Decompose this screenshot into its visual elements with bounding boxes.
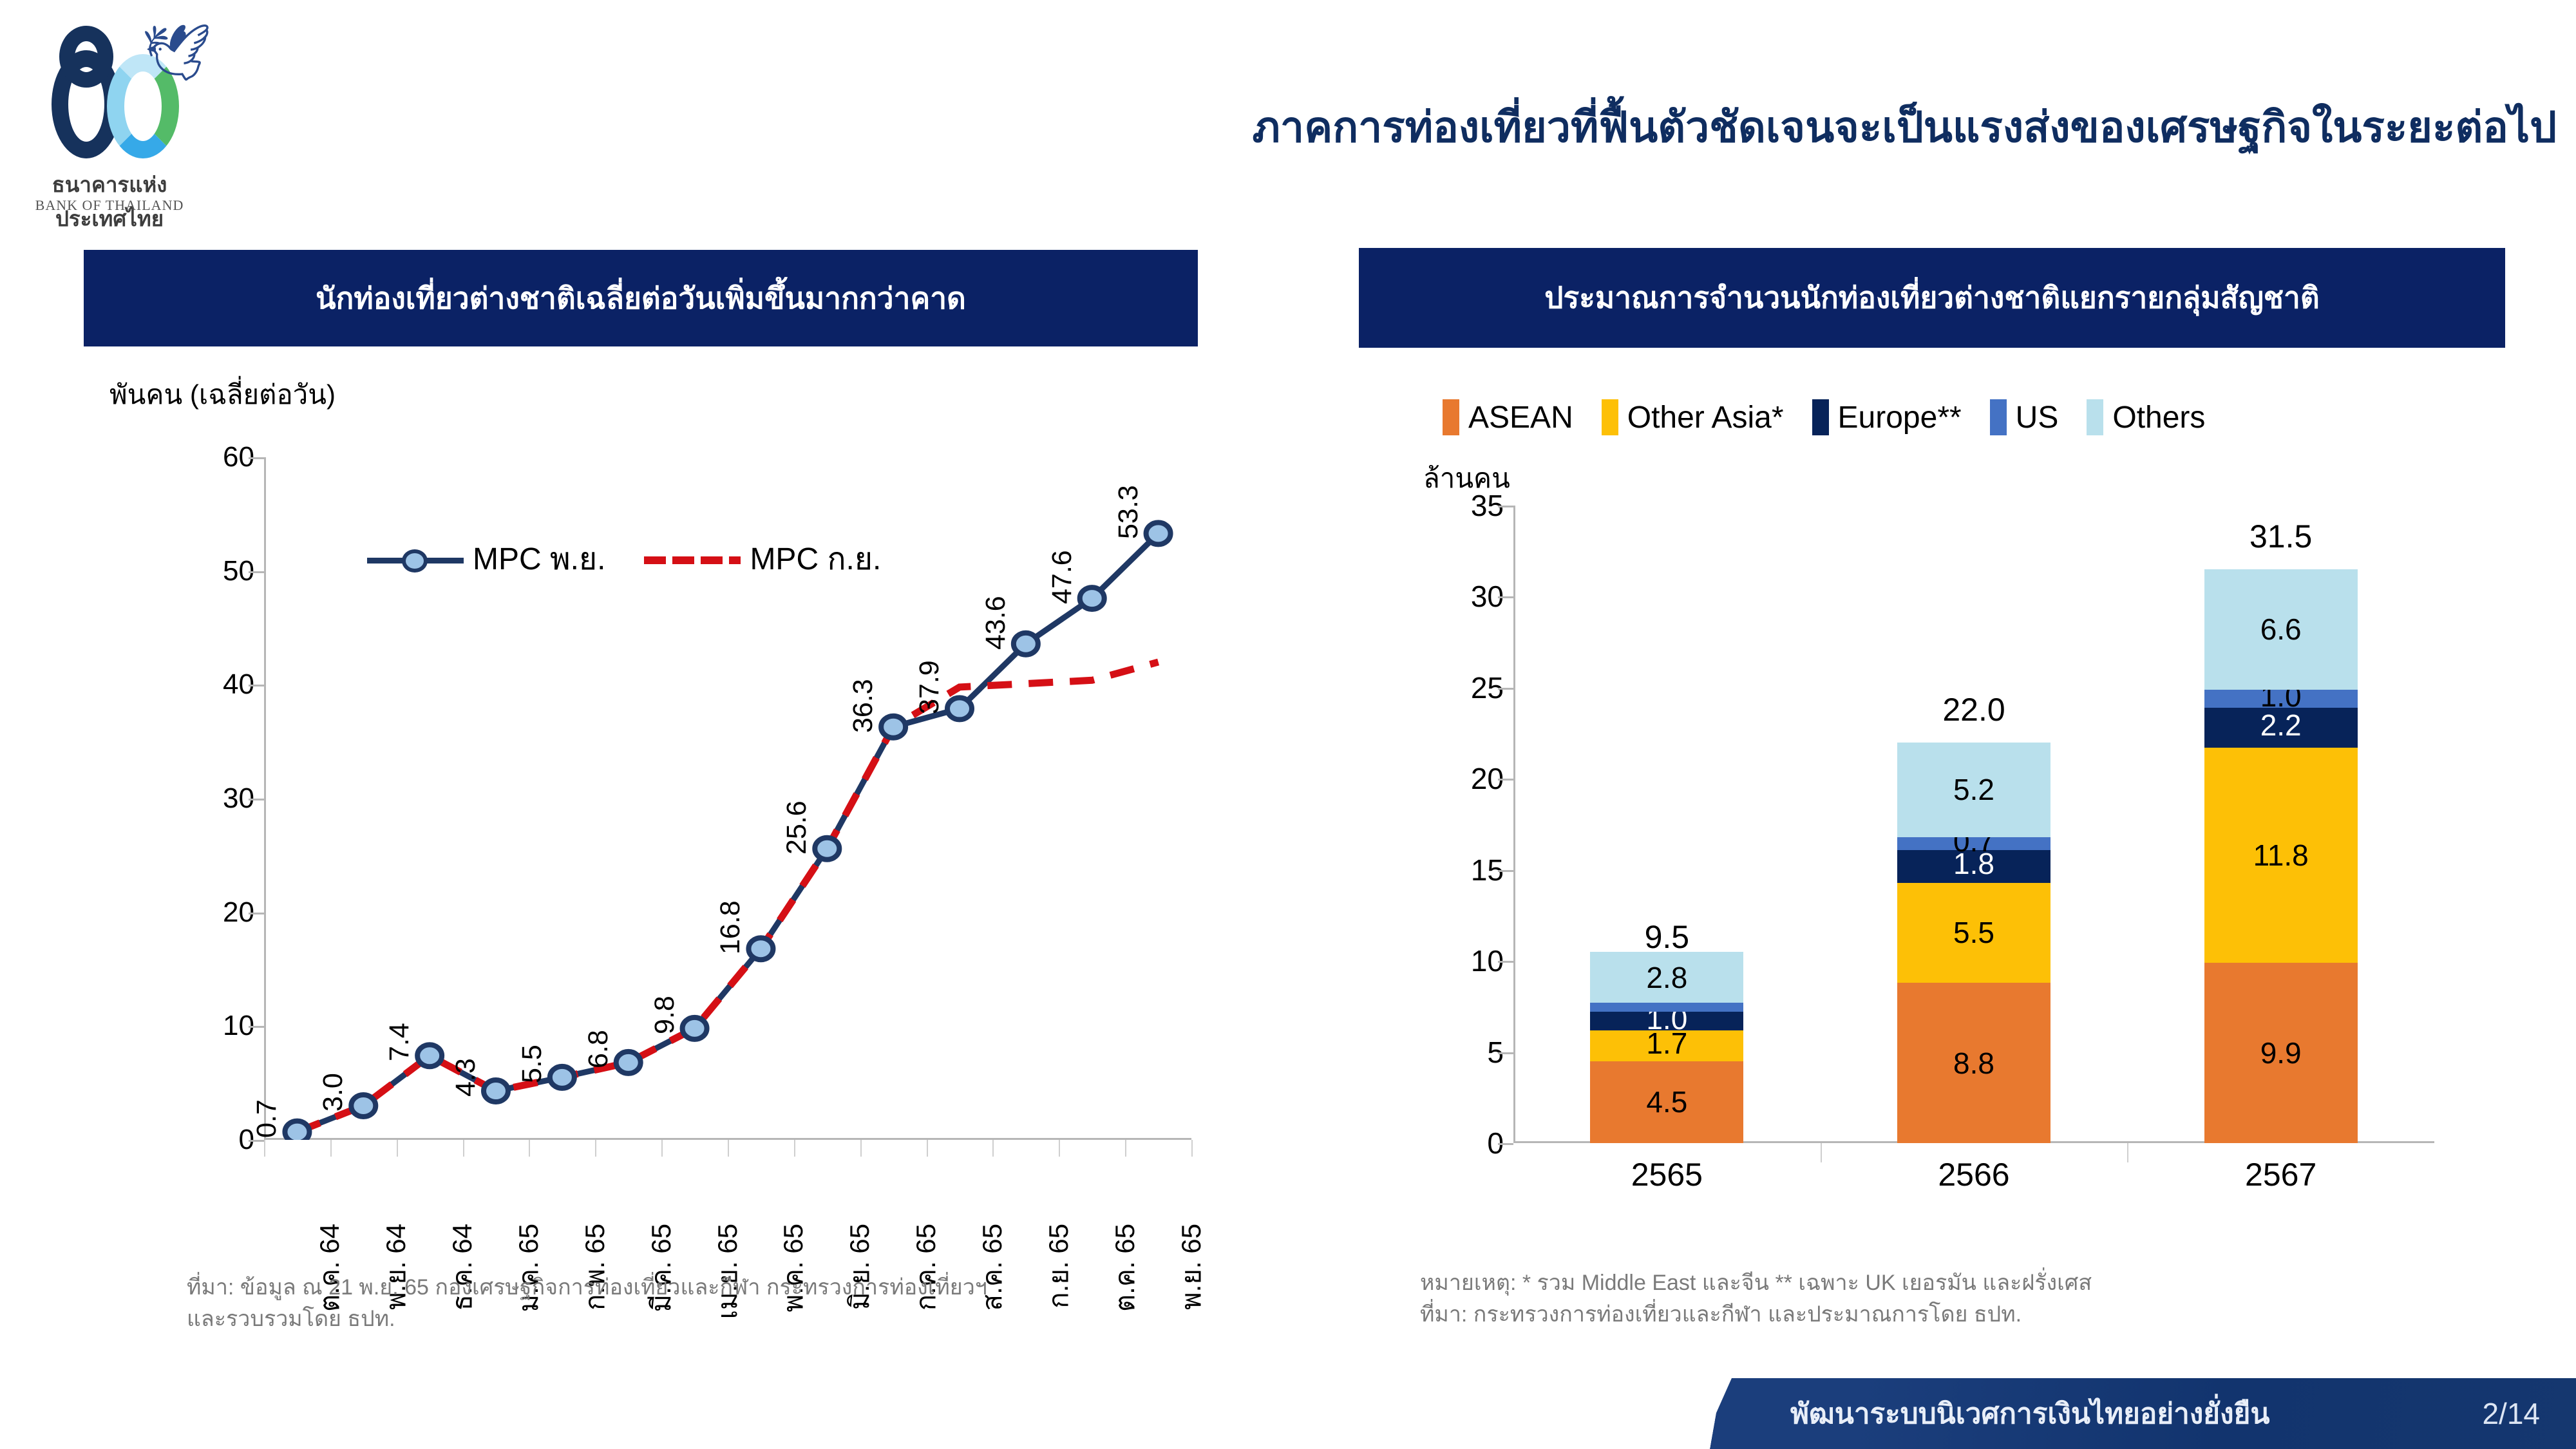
bar-segment-value: 4.5 xyxy=(1646,1084,1687,1119)
legend-label: ASEAN xyxy=(1468,400,1573,435)
page-number: 2/14 xyxy=(2482,1396,2540,1431)
y-tick-label: 10 xyxy=(1430,943,1504,978)
y-tick-label: 60 xyxy=(151,441,254,473)
y-axis-tick xyxy=(1498,596,1513,598)
bar-total-label: 22.0 xyxy=(1897,691,2050,728)
logo-ring-inner-left xyxy=(59,26,113,88)
y-tick-label: 20 xyxy=(1430,761,1504,796)
footer-slogan: พัฒนาระบบนิเวศการเงินไทยอย่างยั่งยืน xyxy=(1790,1391,2269,1436)
y-axis-tick xyxy=(1498,506,1513,507)
bar-segment-us: 1.0 xyxy=(2204,690,2358,708)
legend-swatch-icon xyxy=(2087,399,2103,435)
y-axis-tick xyxy=(1498,779,1513,781)
source-right-line: ที่มา: กระทรวงการท่องเที่ยวและกีฬา และปร… xyxy=(1420,1299,2515,1331)
data-point-marker xyxy=(748,938,773,960)
bar-group-2566: 8.85.51.80.75.222.0 xyxy=(1897,743,2050,1143)
y-tick-label: 15 xyxy=(1430,853,1504,887)
panel-header-left: นักท่องเที่ยวต่างชาติเฉลี่ยต่อวันเพิ่มขึ… xyxy=(84,250,1198,346)
x-axis-tick xyxy=(595,1140,596,1157)
data-point-label: 47.6 xyxy=(1046,550,1078,604)
data-point-marker xyxy=(484,1080,508,1102)
legend-label: US xyxy=(2016,400,2059,435)
source-left-line1: ที่มา: ข้อมูล ณ 21 พ.ย. 65 กองเศรษฐกิจกา… xyxy=(187,1272,1217,1303)
legend-swatch-icon xyxy=(1443,399,1459,435)
bar-segment-value: 9.9 xyxy=(2260,1036,2302,1070)
bar-segment-us: 0.7 xyxy=(1897,837,2050,850)
y-tick-label: 5 xyxy=(1430,1035,1504,1070)
source-note-right: หมายเหตุ: * รวม Middle East และจีน ** เฉ… xyxy=(1420,1267,2515,1331)
y-tick-label: 20 xyxy=(151,896,254,929)
data-point-label: 5.5 xyxy=(516,1045,548,1083)
y-tick-label: 40 xyxy=(151,668,254,701)
y-tick-label: 30 xyxy=(1430,579,1504,614)
legend-item-asean: ASEAN xyxy=(1443,399,1573,435)
garuda-emblem-icon: 🕊 xyxy=(142,19,189,86)
x-axis-tick xyxy=(1059,1140,1060,1157)
legend-swatch-icon xyxy=(1990,399,2007,435)
x-axis-tick xyxy=(330,1140,332,1157)
x-axis-tick xyxy=(794,1140,795,1157)
data-point-label: 3.0 xyxy=(317,1073,349,1112)
y-axis-line-right xyxy=(1513,506,1515,1143)
legend-item-others: Others xyxy=(2087,399,2205,435)
data-point-marker xyxy=(815,838,839,860)
bar-segment-value: 11.8 xyxy=(2253,838,2309,873)
line-series-mpc-nov xyxy=(297,533,1158,1132)
x-tick-label: 2567 xyxy=(2127,1156,2434,1193)
bar-segment-value: 6.6 xyxy=(2260,612,2302,647)
data-point-label: 9.8 xyxy=(649,996,681,1034)
x-axis-tick xyxy=(463,1140,464,1157)
data-point-marker xyxy=(550,1066,574,1088)
y-axis-unit-label: พันคน (เฉลี่ยต่อวัน) xyxy=(109,374,336,416)
y-tick-label: 35 xyxy=(1430,488,1504,523)
data-point-label: 25.6 xyxy=(781,800,813,855)
bar-total-label: 31.5 xyxy=(2204,518,2358,555)
bar-segment-others: 5.2 xyxy=(1897,743,2050,837)
data-point-label: 53.3 xyxy=(1113,486,1144,540)
data-point-marker xyxy=(285,1121,309,1140)
y-axis-tick xyxy=(1498,1052,1513,1054)
data-point-label: 37.9 xyxy=(914,661,945,715)
y-tick-label: 0 xyxy=(151,1124,254,1156)
bar-segment-us xyxy=(1590,1003,1743,1012)
data-point-label: 7.4 xyxy=(384,1023,415,1061)
legend-label: Europe** xyxy=(1838,400,1962,435)
bar-segment-otherasia: 11.8 xyxy=(2204,748,2358,963)
x-axis-tick xyxy=(529,1140,530,1157)
stacked-bar-chart-tourist-forecast: ASEANOther Asia*Europe**USOthers ล้านคน … xyxy=(1359,374,2518,1275)
x-axis-labels-right: 256525662567 xyxy=(1513,1156,2434,1214)
data-point-label: 0.7 xyxy=(251,1099,283,1138)
y-tick-label: 50 xyxy=(151,555,254,587)
legend-label: Other Asia* xyxy=(1627,400,1784,435)
source-note-left: ที่มา: ข้อมูล ณ 21 พ.ย. 65 กองเศรษฐกิจกา… xyxy=(187,1272,1217,1336)
y-tick-label: 10 xyxy=(151,1010,254,1042)
y-tick-label: 0 xyxy=(1430,1126,1504,1160)
data-point-label: 43.6 xyxy=(980,596,1012,650)
data-point-marker xyxy=(947,697,972,719)
data-point-label: 16.8 xyxy=(715,900,746,954)
y-axis-tick xyxy=(249,685,264,687)
data-point-label: 6.8 xyxy=(583,1030,614,1068)
x-tick-label: 2566 xyxy=(1821,1156,2128,1193)
bar-segment-asean: 8.8 xyxy=(1897,983,2050,1143)
source-left-line2: และรวบรวมโดย ธปท. xyxy=(187,1303,1217,1335)
y-axis-labels-left: 0102030405060 xyxy=(151,457,254,1140)
legend-label: Others xyxy=(2112,400,2205,435)
x-axis-tick xyxy=(860,1140,862,1157)
data-point-marker xyxy=(1014,633,1038,655)
panel-header-right: ประมาณการจำนวนนักท่องเที่ยวต่างชาติแยกรา… xyxy=(1359,248,2505,348)
legend-item-otherasia: Other Asia* xyxy=(1602,399,1784,435)
data-point-label: 4.3 xyxy=(450,1058,482,1097)
x-axis-tick xyxy=(264,1140,265,1157)
bank-of-thailand-logo: 🕊 ธนาคารแห่งประเทศไทย BANK OF THAILAND xyxy=(13,6,238,232)
x-axis-tick xyxy=(1191,1140,1193,1157)
data-point-marker xyxy=(351,1095,375,1117)
y-axis-tick xyxy=(249,1140,264,1142)
x-tick-label: 2565 xyxy=(1513,1156,1821,1193)
legend-item-us: US xyxy=(1990,399,2059,435)
x-axis-tick xyxy=(728,1140,729,1157)
x-axis-tick xyxy=(992,1140,994,1157)
bar-chart-plot-area: 05101520253035 4.51.71.02.89.58.85.51.80… xyxy=(1513,506,2434,1143)
y-axis-labels-right: 05101520253035 xyxy=(1430,506,1504,1143)
legend-swatch-icon xyxy=(1602,399,1618,435)
y-axis-tick xyxy=(249,457,264,459)
bar-segment-others: 6.6 xyxy=(2204,569,2358,690)
y-axis-tick xyxy=(1498,1143,1513,1145)
data-point-label: 36.3 xyxy=(848,679,879,733)
x-axis-tick xyxy=(661,1140,663,1157)
bar-segment-asean: 9.9 xyxy=(2204,963,2358,1143)
bar-segment-value: 5.2 xyxy=(1953,772,1994,807)
y-axis-tick xyxy=(1498,961,1513,963)
x-axis-tick xyxy=(397,1140,398,1157)
page-title: ภาคการท่องเที่ยวที่ฟื้นตัวชัดเจนจะเป็นแร… xyxy=(728,103,2557,152)
y-axis-tick xyxy=(249,913,264,914)
bar-segment-asean: 4.5 xyxy=(1590,1061,1743,1143)
bar-total-label: 9.5 xyxy=(1590,918,1743,956)
bar-segment-others: 2.8 xyxy=(1590,952,1743,1003)
data-point-marker xyxy=(1146,522,1171,544)
y-axis-tick xyxy=(249,799,264,800)
bar-segment-value: 5.5 xyxy=(1953,915,1994,950)
data-point-marker xyxy=(616,1052,641,1074)
data-point-marker xyxy=(417,1045,442,1066)
bar-segment-europe: 1.0 xyxy=(1590,1012,1743,1030)
y-axis-tick xyxy=(249,571,264,573)
logo-name-english: BANK OF THAILAND xyxy=(13,197,206,214)
note-right-line: หมายเหตุ: * รวม Middle East และจีน ** เฉ… xyxy=(1420,1267,2515,1299)
y-tick-label: 25 xyxy=(1430,670,1504,705)
y-axis-tick xyxy=(1498,870,1513,872)
bar-segment-otherasia: 5.5 xyxy=(1897,883,2050,983)
legend-swatch-icon xyxy=(1812,399,1829,435)
y-tick-label: 30 xyxy=(151,782,254,815)
bar-segment-value: 2.8 xyxy=(1646,960,1687,995)
data-point-marker xyxy=(683,1018,707,1039)
chart-legend-right: ASEANOther Asia*Europe**USOthers xyxy=(1443,399,2205,435)
line-chart-daily-tourists: พันคน (เฉลี่ยต่อวัน) MPC พ.ย. MPC ก.ย. 0… xyxy=(97,374,1204,1275)
x-axis-tick xyxy=(927,1140,928,1157)
legend-item-europe: Europe** xyxy=(1812,399,1962,435)
slide-footer-bar: พัฒนาระบบนิเวศการเงินไทยอย่างยั่งยืน 2/1… xyxy=(1700,1378,2576,1449)
bar-group-2565: 4.51.71.02.89.5 xyxy=(1590,970,1743,1143)
y-axis-tick xyxy=(249,1026,264,1028)
bar-segment-europe: 2.2 xyxy=(2204,708,2358,748)
y-axis-tick xyxy=(1498,688,1513,690)
x-axis-tick xyxy=(1125,1140,1126,1157)
data-point-marker xyxy=(881,716,905,738)
data-point-marker xyxy=(1080,587,1104,609)
bar-segment-value: 8.8 xyxy=(1953,1046,1994,1081)
bar-group-2567: 9.911.82.21.06.631.5 xyxy=(2204,569,2358,1143)
logo-80-mark: 🕊 xyxy=(45,26,213,161)
line-chart-plot-area: 0102030405060 0.73.07.44.35.56.89.816.82… xyxy=(264,457,1191,1140)
